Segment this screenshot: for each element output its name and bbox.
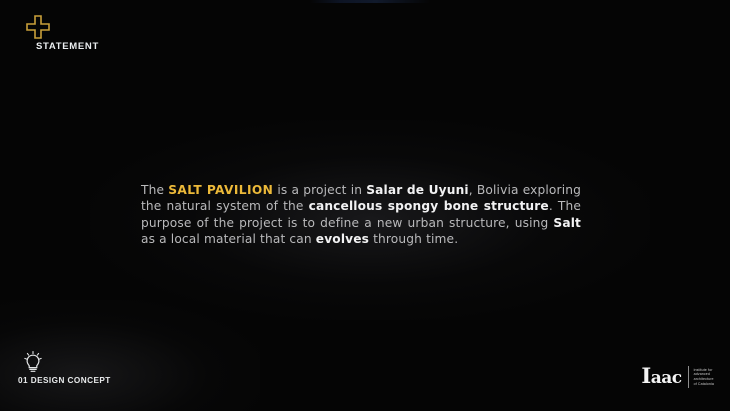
section-footer-label: 01 DESIGN CONCEPT — [18, 376, 238, 385]
iaac-logo-subtitle: institute for advanced architecture of C… — [694, 368, 714, 386]
statement-text-5: as a local material that can — [141, 232, 316, 246]
statement-strong-salt: Salt — [553, 216, 581, 230]
statement-paragraph: The SALT PAVILION is a project in Salar … — [141, 182, 581, 247]
statement-lead: The — [141, 183, 168, 197]
statement-body: The SALT PAVILION is a project in Salar … — [141, 182, 581, 247]
iaac-logo-divider — [688, 366, 689, 388]
statement-text-2: is a project in — [273, 183, 366, 197]
section-footer: 01 DESIGN CONCEPT — [18, 350, 238, 385]
slide-canvas: STATEMENT The SALT PAVILION is a project… — [0, 0, 730, 411]
top-edge-accent-bar — [310, 0, 430, 3]
statement-strong-evolves: evolves — [316, 232, 369, 246]
iaac-logo-subtitle-line-3: architecture — [694, 377, 714, 382]
statement-header-label: STATEMENT — [36, 41, 202, 52]
statement-strong-bone-structure: cancellous spongy bone structure — [309, 199, 549, 213]
statement-text-6: through time. — [369, 232, 458, 246]
statement-header: STATEMENT — [22, 14, 202, 52]
iaac-logo-wordmark: Iaac — [641, 366, 687, 388]
statement-strong-salar-de-uyuni: Salar de Uyuni — [366, 183, 469, 197]
statement-accent-salt-pavilion: SALT PAVILION — [168, 183, 273, 197]
iaac-logo-letters-aac: aac — [651, 368, 682, 388]
plus-icon — [25, 14, 51, 40]
iaac-logo-subtitle-line-4: of Catalonia — [694, 382, 714, 387]
iaac-logo-letter-i: I — [641, 363, 650, 388]
lightbulb-icon — [22, 350, 44, 374]
iaac-logo: Iaac institute for advanced architecture… — [641, 364, 714, 390]
